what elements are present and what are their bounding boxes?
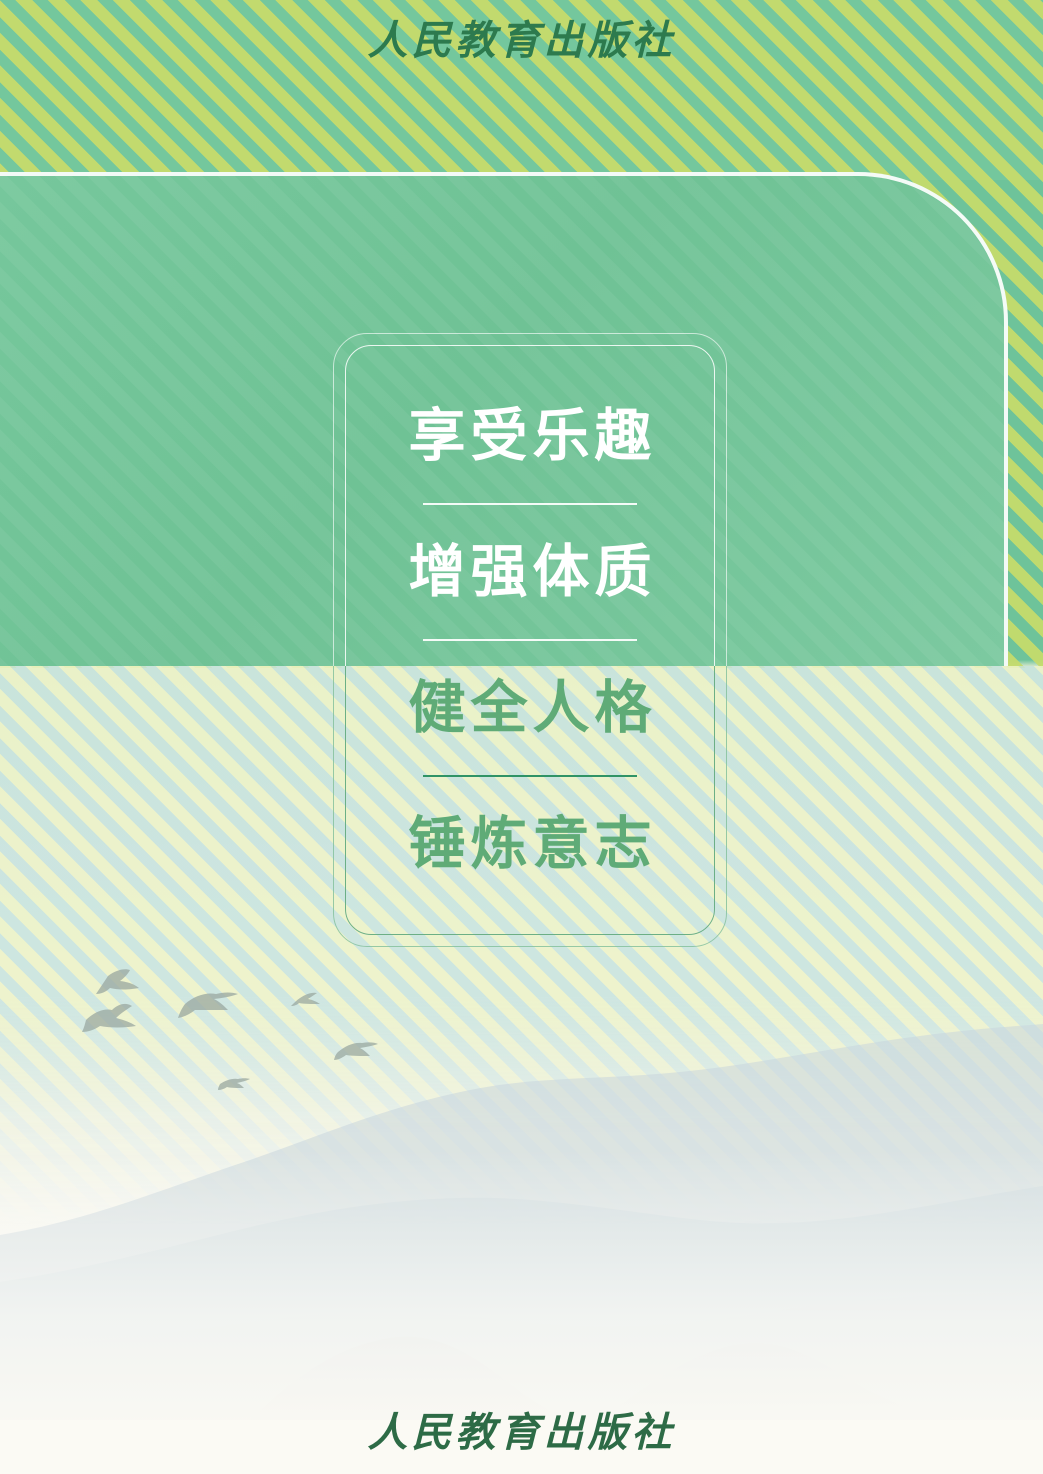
slogan-separator-2 [423, 639, 637, 641]
publisher-logo-top: 人民教育出版社 [0, 8, 1043, 66]
slogan-separator-1 [423, 503, 637, 505]
book-cover-poster: 享受乐趣 增强体质 健全人格 锤炼意志 人民教育出版社 人民教育出版社 [0, 0, 1043, 1474]
bird-3 [178, 993, 238, 1019]
publisher-logo-bottom: 人民教育出版社 [0, 1400, 1043, 1458]
slogan-line-3: 健全人格 [404, 665, 657, 751]
slogan-line-2: 增强体质 [404, 529, 657, 615]
flying-birds [0, 960, 420, 1090]
bird-6 [218, 1078, 250, 1090]
bird-5 [334, 1042, 378, 1060]
slogan-line-4: 锤炼意志 [404, 801, 657, 887]
bird-1 [82, 1004, 136, 1032]
bird-4 [291, 993, 320, 1006]
bird-2 [96, 969, 139, 994]
slogan-separator-3 [423, 775, 637, 777]
slogan-block: 享受乐趣 增强体质 健全人格 锤炼意志 [333, 333, 727, 947]
slogan-line-1: 享受乐趣 [404, 393, 657, 479]
